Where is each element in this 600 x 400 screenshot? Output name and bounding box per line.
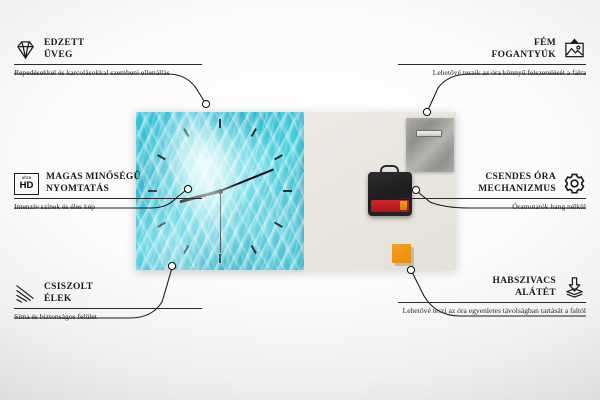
callout-subtitle: Lehetővé teszi az óra egyenletes távolsá… <box>398 303 586 316</box>
callout-subtitle: Lehetővé teszik az óra könnyű felszerelé… <box>398 65 586 78</box>
clock-tick <box>274 154 283 160</box>
callout-foam-pad: HABSZIVACSALÁTÉT Lehetővé teszi az óra e… <box>398 276 586 316</box>
clock-second-hand <box>220 191 221 253</box>
hanger-plate <box>406 118 454 172</box>
clock-tick <box>219 119 221 128</box>
callout-metal-hangers: FÉMFOGANTYÚK Lehetővé teszik az óra könn… <box>398 38 586 78</box>
callout-title: HABSZIVACSALÁTÉT <box>492 276 556 299</box>
mechanism-loop <box>380 165 399 175</box>
clock-tick <box>283 190 292 192</box>
callout-header: ultra HD MAGAS MINŐSÉGŰNYOMTATÁS <box>14 172 202 198</box>
clock-tick <box>251 245 257 254</box>
callout-title: FÉMFOGANTYÚK <box>492 38 556 61</box>
callout-header: CSISZOLTÉLEK <box>14 282 202 308</box>
callout-header: FÉMFOGANTYÚK <box>398 38 586 64</box>
connector-metal-hangers <box>428 74 586 110</box>
callout-title: CSISZOLTÉLEK <box>44 282 93 305</box>
clock-center-cap <box>218 189 223 194</box>
download-arrow-icon <box>563 276 586 299</box>
callout-subtitle: Sima és biztonságos felület <box>14 309 202 322</box>
ultra-hd-icon-main: HD <box>20 181 34 191</box>
callout-header: HABSZIVACSALÁTÉT <box>398 276 586 302</box>
connector-dot-tempered-glass <box>202 100 209 107</box>
foam-pad <box>392 244 411 263</box>
clock-minute-hand <box>220 168 275 192</box>
callout-tempered-glass: EDZETTÜVEG Repedésekkel és karcolásokkal… <box>14 38 202 78</box>
picture-frame-icon <box>563 38 586 61</box>
callout-header: CSENDES ÓRAMECHANIZMUS <box>398 172 586 198</box>
infographic-stage: EDZETTÜVEG Repedésekkel és karcolásokkal… <box>0 0 600 400</box>
ultra-hd-icon: ultra HD <box>14 173 39 195</box>
clock-tick <box>183 245 189 254</box>
callout-header: EDZETTÜVEG <box>14 38 202 64</box>
diamond-icon <box>14 38 37 61</box>
callout-polished-edges: CSISZOLTÉLEK Sima és biztonságos felület <box>14 282 202 322</box>
callout-subtitle: Óramutatók hang nélkül <box>398 199 586 212</box>
polished-edge-icon <box>14 282 37 305</box>
callout-title: MAGAS MINŐSÉGŰNYOMTATÁS <box>46 172 141 195</box>
clock-tick <box>157 222 166 228</box>
clock-tick <box>157 154 166 160</box>
clock-tick <box>251 128 257 137</box>
clock-tick <box>274 222 283 228</box>
callout-hd-print: ultra HD MAGAS MINŐSÉGŰNYOMTATÁS Intenzí… <box>14 172 202 212</box>
callout-title: EDZETTÜVEG <box>44 38 84 61</box>
hanger-slot <box>416 130 442 137</box>
callout-subtitle: Repedésekkel és karcolásokkal szembeni e… <box>14 65 202 78</box>
gear-icon <box>563 172 586 195</box>
clock-tick <box>219 254 221 263</box>
callout-title: CSENDES ÓRAMECHANIZMUS <box>478 172 556 195</box>
connector-tempered-glass <box>14 74 206 104</box>
clock-tick <box>183 128 189 137</box>
callout-silent-movement: CSENDES ÓRAMECHANIZMUS Óramutatók hang n… <box>398 172 586 212</box>
callout-subtitle: Intenzív színek és éles kép <box>14 199 202 212</box>
